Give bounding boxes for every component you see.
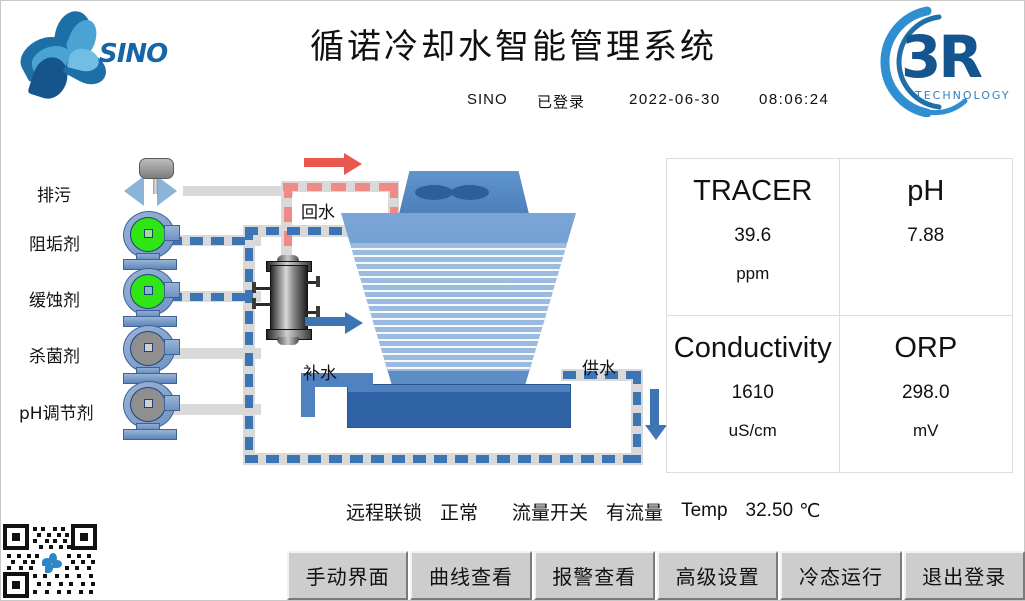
label-makeup-water: 补水 (303, 359, 337, 384)
flow-dosing-riser (245, 227, 253, 455)
arrow-head (344, 153, 362, 175)
3r-logo-subtext: TECHNOLOGY (915, 89, 1011, 102)
arrow-shaft (305, 317, 347, 326)
pump-hub (144, 286, 153, 295)
valve-body-left (124, 176, 144, 206)
remote-interlock-value: 正常 (440, 498, 478, 525)
3r-logo: 3R TECHNOLOGY (869, 5, 1019, 117)
label-blowdown: 排污 (37, 181, 71, 206)
readout-unit: uS/cm (729, 421, 777, 441)
vessel-nozzle-left-lower (254, 303, 272, 306)
button-logout[interactable]: 退出登录 (904, 551, 1025, 600)
header-time: 08:06:24 (759, 91, 829, 108)
readout-name: TRACER (693, 175, 812, 208)
login-status: 已登录 (537, 91, 585, 112)
button-alarm-view[interactable]: 报警查看 (534, 551, 655, 600)
blowdown-valve[interactable] (124, 158, 190, 212)
qr-code[interactable] (3, 524, 99, 600)
arrow-shaft (304, 158, 346, 167)
readout-name: pH (907, 175, 944, 208)
fan-blade-right (451, 185, 489, 200)
readout-name: Conductivity (674, 332, 832, 365)
pump-biocide[interactable] (123, 323, 179, 379)
remote-interlock-label: 远程联锁 (346, 498, 422, 525)
flow-inhibitor (169, 293, 247, 301)
pipe-blowdown (183, 186, 293, 196)
readout-value: 39.6 (734, 225, 771, 247)
3r-logo-text: 3R (901, 23, 980, 91)
readout-ph[interactable]: pH 7.88 (840, 159, 1013, 316)
temp-unit: ℃ (799, 500, 820, 522)
tower-fill-slats (341, 243, 576, 371)
header: SINO 循诺冷却水智能管理系统 SINO 已登录 2022-06-30 08:… (1, 1, 1025, 121)
readout-orp[interactable]: ORP 298.0 mV (840, 316, 1013, 473)
header-user: SINO (467, 91, 508, 108)
arrow-head (345, 312, 363, 334)
button-bar: 手动界面 曲线查看 报警查看 高级设置 冷态运行 退出登录 (286, 551, 1025, 600)
flow-antiscale (169, 237, 247, 245)
pump-base (123, 429, 177, 440)
valve-body-right (157, 176, 177, 206)
label-supply-water: 供水 (582, 354, 616, 379)
pump-outlet (164, 225, 180, 241)
readout-name: ORP (894, 332, 957, 365)
arrow-head (645, 425, 667, 440)
pump-inhibitor[interactable] (123, 266, 179, 322)
pump-hub (144, 229, 153, 238)
flow-switch-value: 有流量 (606, 498, 663, 525)
readout-value: 298.0 (902, 382, 950, 404)
pump-antiscale[interactable] (123, 209, 179, 265)
readout-unit: ppm (736, 264, 769, 284)
pump-outlet (164, 339, 180, 355)
vessel-bottom-dome (277, 337, 299, 345)
vessel-flange-ll (252, 298, 256, 309)
label-return-water: 回水 (301, 198, 335, 223)
flow-bottom-run (245, 455, 641, 463)
arrow-supply-flow (645, 389, 664, 441)
fan-deck (399, 171, 529, 214)
arrow-shaft (650, 389, 659, 427)
pump-outlet (164, 395, 180, 411)
vessel-shell (270, 265, 308, 335)
label-inhibitor: 缓蚀剂 (29, 286, 80, 311)
label-ph-adjust: pH调节剂 (19, 399, 94, 424)
cooling-tower[interactable] (341, 171, 576, 421)
hmi-screen: SINO 循诺冷却水智能管理系统 SINO 已登录 2022-06-30 08:… (0, 0, 1025, 601)
flow-switch-label: 流量开关 (512, 498, 588, 525)
fan-blade-left (415, 185, 453, 200)
readout-value: 7.88 (907, 225, 944, 247)
label-antiscale: 阻垢剂 (29, 230, 80, 255)
readout-conductivity[interactable]: Conductivity 1610 uS/cm (667, 316, 840, 473)
pump-outlet (164, 282, 180, 298)
arrow-makeup-flow (305, 312, 363, 332)
temp-label: Temp (681, 500, 727, 522)
readout-tracer[interactable]: TRACER 39.6 ppm (667, 159, 840, 316)
valve-actuator (139, 158, 174, 179)
button-manual-screen[interactable]: 手动界面 (287, 551, 408, 600)
readout-value: 1610 (732, 382, 774, 404)
heat-exchanger-vessel[interactable] (266, 255, 310, 343)
arrow-return-flow (304, 153, 362, 173)
button-advanced-config[interactable]: 高级设置 (657, 551, 778, 600)
temp-value: 32.50 (746, 500, 794, 522)
vessel-nozzle-left-upper (254, 287, 272, 290)
qr-logo-petal (52, 560, 62, 568)
button-cold-start[interactable]: 冷态运行 (780, 551, 901, 600)
vessel-flange-lu (252, 282, 256, 293)
tower-fill-body (341, 213, 576, 388)
label-biocide: 杀菌剂 (29, 342, 80, 367)
header-date: 2022-06-30 (629, 91, 721, 108)
flow-supply-riser (633, 371, 641, 463)
pump-ph-adjust[interactable] (123, 379, 179, 435)
readout-unit: mV (913, 421, 939, 441)
readout-panel: TRACER 39.6 ppm pH 7.88 Conductivity 161… (666, 158, 1013, 473)
button-trend-view[interactable]: 曲线查看 (410, 551, 531, 600)
tower-basin (347, 384, 571, 428)
pump-hub (144, 343, 153, 352)
vessel-flange-ru (316, 276, 320, 287)
pump-hub (144, 399, 153, 408)
status-bar: 远程联锁 正常 流量开关 有流量 Temp 32.50 ℃ (346, 495, 820, 527)
